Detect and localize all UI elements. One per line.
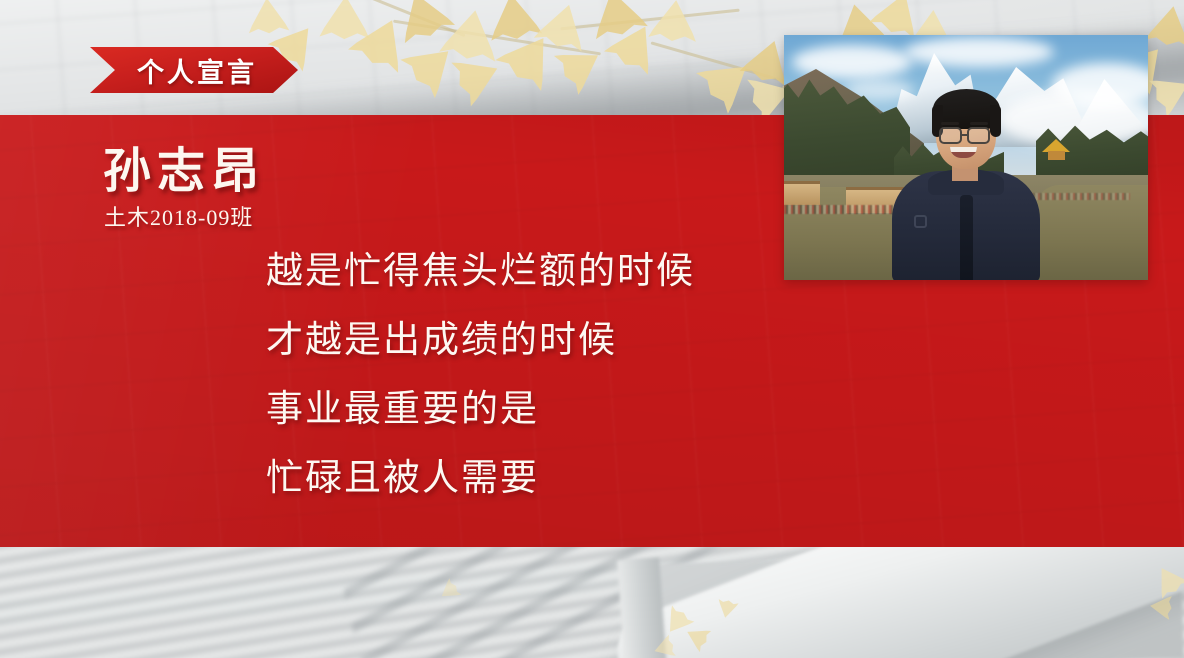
person-name: 孙志昂 bbox=[103, 148, 265, 196]
person-hair-right bbox=[990, 105, 1001, 137]
person-eyebrow-left bbox=[941, 122, 959, 125]
glasses-lens-right bbox=[967, 127, 990, 144]
portrait-photo bbox=[784, 35, 1148, 280]
glasses-lens-left bbox=[939, 127, 962, 144]
declaration-line: 忙碌且被人需要 bbox=[266, 460, 826, 497]
person-class: 土木2018-09班 bbox=[104, 207, 253, 229]
page-title: 个人宣言 bbox=[90, 47, 298, 93]
photo-cloud bbox=[904, 37, 1054, 67]
person-zipper bbox=[960, 195, 973, 280]
declaration-line: 才越是出成绩的时候 bbox=[266, 322, 826, 359]
photo-temple-body bbox=[1048, 151, 1065, 160]
slide-canvas: 个人宣言 孙志昂 土木2018-09班 越是忙得焦头烂额的时候 才越是出成绩的时… bbox=[0, 0, 1184, 658]
declaration-block: 越是忙得焦头烂额的时候 才越是出成绩的时候 事业最重要的是 忙碌且被人需要 bbox=[266, 253, 826, 497]
declaration-line: 越是忙得焦头烂额的时候 bbox=[266, 253, 826, 290]
glasses-bridge bbox=[962, 134, 967, 136]
handrail-post bbox=[617, 558, 667, 658]
person-teeth bbox=[950, 147, 977, 152]
person-eyebrow-right bbox=[970, 122, 988, 125]
photo-village-building bbox=[784, 181, 820, 205]
declaration-line: 事业最重要的是 bbox=[266, 391, 826, 428]
person-chest-logo bbox=[914, 215, 927, 228]
